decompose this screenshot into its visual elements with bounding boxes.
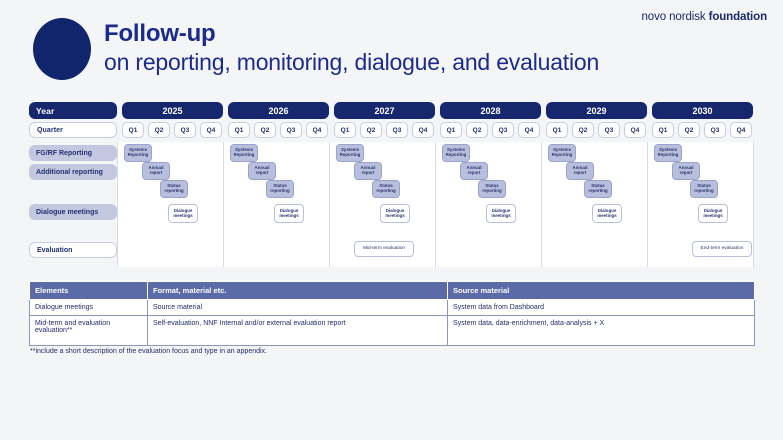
cell-elements-0: Dialogue meetings: [30, 300, 148, 316]
quarter-2029-q1[interactable]: Q1: [546, 122, 568, 138]
row-label-fg-rf-reporting: FG/RF Reporting: [29, 145, 117, 161]
quarter-2025-q1[interactable]: Q1: [122, 122, 144, 138]
slide-root: novo nordisk foundation Follow-up on rep…: [0, 0, 783, 440]
activity-systems-reporting-2026[interactable]: Systems Reporting: [230, 144, 258, 162]
quarter-2030-q3[interactable]: Q3: [704, 122, 726, 138]
row-label-dialogue-meetings: Dialogue meetings: [29, 204, 117, 220]
quarter-2026-q3[interactable]: Q3: [280, 122, 302, 138]
quarter-2025-q4[interactable]: Q4: [200, 122, 222, 138]
decorative-circle: [33, 18, 91, 80]
row-label-additional-reporting: Additional reporting: [29, 164, 117, 180]
title-primary: Follow-up: [104, 20, 599, 48]
year-cell-2025: 2025: [122, 102, 223, 119]
year-divider-end: [753, 142, 754, 267]
timeline-body: FG/RF Reporting Additional reporting Dia…: [29, 142, 754, 272]
activity-dialogue-meetings-2028[interactable]: Dialogue meetings: [486, 204, 516, 223]
year-divider-2027: [329, 142, 330, 267]
quarter-2030-q4[interactable]: Q4: [730, 122, 752, 138]
page-title: Follow-up on reporting, monitoring, dial…: [104, 20, 599, 76]
milestone-mid-term-evaluation[interactable]: Mid-term evaluation: [354, 241, 414, 257]
activity-annual-report-2028[interactable]: Annual report: [460, 162, 488, 180]
activity-systems-reporting-2025[interactable]: Systems Reporting: [124, 144, 152, 162]
activity-systems-reporting-2027[interactable]: Systems Reporting: [336, 144, 364, 162]
activity-status-reporting-2030[interactable]: Status reporting: [690, 180, 718, 198]
cell-elements-1: Mid-term and evaluation evaluation**: [30, 316, 148, 346]
quarter-2028-q4[interactable]: Q4: [518, 122, 540, 138]
year-divider-2030: [647, 142, 648, 267]
activity-dialogue-meetings-2029[interactable]: Dialogue meetings: [592, 204, 622, 223]
quarter-2025-q3[interactable]: Q3: [174, 122, 196, 138]
activity-systems-reporting-2029[interactable]: Systems Reporting: [548, 144, 576, 162]
logo-bold-text: foundation: [709, 11, 767, 23]
year-cell-2026: 2026: [228, 102, 329, 119]
year-divider-2029: [541, 142, 542, 267]
quarter-2026-q1[interactable]: Q1: [228, 122, 250, 138]
activity-annual-report-2030[interactable]: Annual report: [672, 162, 700, 180]
cell-format-0: Source material: [148, 300, 448, 316]
activity-status-reporting-2026[interactable]: Status reporting: [266, 180, 294, 198]
novo-nordisk-foundation-logo: novo nordisk foundation: [641, 11, 767, 23]
year-divider-2026: [223, 142, 224, 267]
table-row: Dialogue meetings Source material System…: [30, 300, 755, 316]
row-label-evaluation: Evaluation: [29, 242, 117, 258]
timeline-quarter-row: Quarter Q1 Q2 Q3 Q4 Q1 Q2 Q3 Q4 Q1 Q2 Q3…: [29, 122, 754, 138]
quarter-2030-q2[interactable]: Q2: [678, 122, 700, 138]
year-cell-2029: 2029: [546, 102, 647, 119]
quarter-2029-q3[interactable]: Q3: [598, 122, 620, 138]
footnote-text: **include a short description of the eva…: [30, 348, 267, 355]
activity-status-reporting-2027[interactable]: Status reporting: [372, 180, 400, 198]
activity-dialogue-meetings-2025[interactable]: Dialogue meetings: [168, 204, 198, 223]
quarter-2027-q1[interactable]: Q1: [334, 122, 356, 138]
details-table: Elements Format, material etc. Source ma…: [29, 281, 754, 346]
activity-annual-report-2025[interactable]: Annual report: [142, 162, 170, 180]
activity-dialogue-meetings-2027[interactable]: Dialogue meetings: [380, 204, 410, 223]
activity-systems-reporting-2030[interactable]: Systems Reporting: [654, 144, 682, 162]
logo-light-text: novo nordisk: [641, 11, 708, 23]
table-row: Mid-term and evaluation evaluation** Sel…: [30, 316, 755, 346]
activity-status-reporting-2025[interactable]: Status reporting: [160, 180, 188, 198]
quarter-2030-q1[interactable]: Q1: [652, 122, 674, 138]
table-header-format: Format, material etc.: [148, 282, 448, 300]
activity-status-reporting-2028[interactable]: Status reporting: [478, 180, 506, 198]
cell-source-1: System data, data-enrichment, data-analy…: [448, 316, 755, 346]
quarter-2026-q2[interactable]: Q2: [254, 122, 276, 138]
quarter-2027-q3[interactable]: Q3: [386, 122, 408, 138]
activity-status-reporting-2029[interactable]: Status reporting: [584, 180, 612, 198]
quarter-2029-q4[interactable]: Q4: [624, 122, 646, 138]
year-divider-2028: [435, 142, 436, 267]
cell-source-0: System data from Dashboard: [448, 300, 755, 316]
activity-dialogue-meetings-2026[interactable]: Dialogue meetings: [274, 204, 304, 223]
activity-annual-report-2029[interactable]: Annual report: [566, 162, 594, 180]
activity-systems-reporting-2028[interactable]: Systems Reporting: [442, 144, 470, 162]
quarter-2027-q4[interactable]: Q4: [412, 122, 434, 138]
year-cell-2030: 2030: [652, 102, 753, 119]
year-cell-2027: 2027: [334, 102, 435, 119]
table-header-elements: Elements: [30, 282, 148, 300]
quarter-row-label: Quarter: [29, 122, 117, 138]
table-header-source-material: Source material: [448, 282, 755, 300]
timeline-year-row: Year 2025 2026 2027 2028 2029 2030: [29, 102, 754, 119]
year-row-label: Year: [29, 102, 117, 119]
activity-annual-report-2027[interactable]: Annual report: [354, 162, 382, 180]
cell-format-1: Self-evaluation, NNF Internal and/or ext…: [148, 316, 448, 346]
year-cell-2028: 2028: [440, 102, 541, 119]
quarter-2025-q2[interactable]: Q2: [148, 122, 170, 138]
quarter-2028-q3[interactable]: Q3: [492, 122, 514, 138]
quarter-2028-q2[interactable]: Q2: [466, 122, 488, 138]
milestone-end-term-evaluation[interactable]: End-term evaluation: [692, 241, 752, 257]
quarter-2027-q2[interactable]: Q2: [360, 122, 382, 138]
timeline-chart: Year 2025 2026 2027 2028 2029 2030 Quart…: [29, 102, 754, 274]
quarter-2029-q2[interactable]: Q2: [572, 122, 594, 138]
quarter-2026-q4[interactable]: Q4: [306, 122, 328, 138]
activity-dialogue-meetings-2030[interactable]: Dialogue meetings: [698, 204, 728, 223]
year-divider-2025: [117, 142, 118, 267]
table-header-row: Elements Format, material etc. Source ma…: [30, 282, 755, 300]
quarter-2028-q1[interactable]: Q1: [440, 122, 462, 138]
activity-annual-report-2026[interactable]: Annual report: [248, 162, 276, 180]
title-secondary: on reporting, monitoring, dialogue, and …: [104, 49, 599, 77]
